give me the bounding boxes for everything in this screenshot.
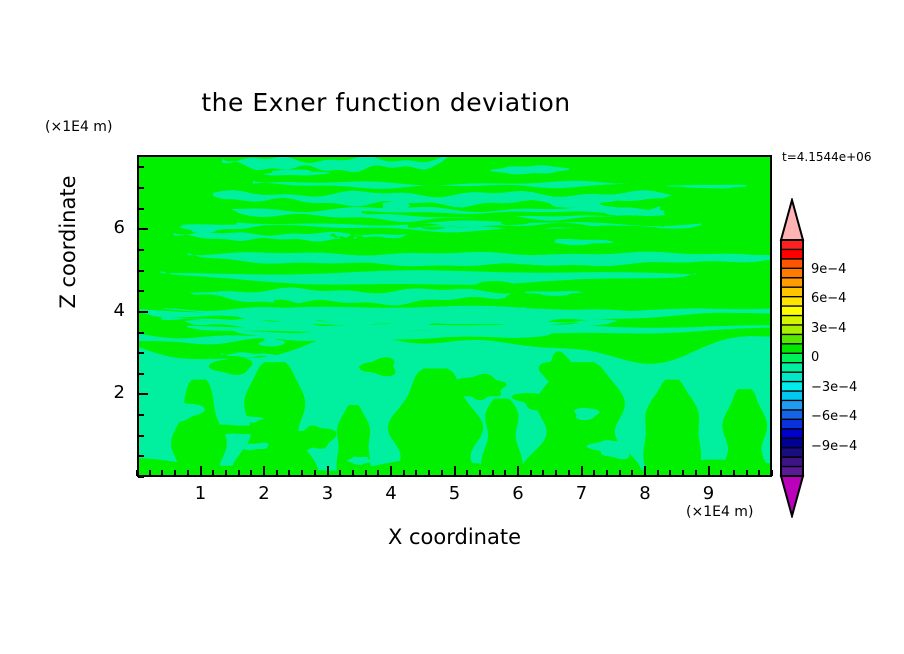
colorbar-tick-label: −6e−4 xyxy=(811,409,857,424)
x-tick-minor xyxy=(492,470,494,476)
x-tick-minor xyxy=(377,470,379,476)
x-tick-label: 7 xyxy=(567,483,597,504)
x-tick-minor xyxy=(339,470,341,476)
x-tick-minor xyxy=(657,470,659,476)
x-tick-minor xyxy=(593,470,595,476)
x-tick-minor xyxy=(720,470,722,476)
x-tick-top-major xyxy=(0,200,2,210)
x-tick-major xyxy=(390,466,392,476)
x-tick-minor xyxy=(504,470,506,476)
x-tick-top-major xyxy=(0,166,2,176)
y-tick-right-minor xyxy=(0,372,6,374)
x-tick-major xyxy=(581,466,583,476)
x-tick-top-major xyxy=(0,132,2,142)
x-tick-minor xyxy=(441,470,443,476)
x-tick-minor xyxy=(631,470,633,476)
x-tick-label: 3 xyxy=(313,483,343,504)
x-tick-minor xyxy=(250,470,252,476)
y-tick-major xyxy=(138,228,148,230)
y-tick-major xyxy=(138,393,148,395)
y-tick-minor xyxy=(138,373,144,375)
x-tick-minor xyxy=(606,470,608,476)
y-tick-minor xyxy=(138,455,144,457)
x-tick-minor xyxy=(225,470,227,476)
y-tick-minor xyxy=(138,435,144,437)
x-tick-minor xyxy=(352,470,354,476)
y-tick-label: 4 xyxy=(95,300,125,321)
y-tick-minor xyxy=(138,270,144,272)
x-tick-minor xyxy=(530,470,532,476)
y-tick-label: 6 xyxy=(95,217,125,238)
y-tick-minor xyxy=(138,187,144,189)
y-tick-label: 2 xyxy=(95,382,125,403)
x-tick-minor xyxy=(619,470,621,476)
colorbar-band xyxy=(781,419,803,429)
x-tick-minor xyxy=(428,470,430,476)
colorbar-band xyxy=(781,249,803,259)
x-tick-label: 6 xyxy=(503,483,533,504)
x-tick-minor xyxy=(187,470,189,476)
colorbar-band xyxy=(781,457,803,467)
colorbar-tick-label: 9e−4 xyxy=(811,262,846,277)
x-tick-major xyxy=(517,466,519,476)
y-tick-major xyxy=(138,311,148,313)
colorbar-under-arrow xyxy=(781,476,803,516)
colorbar-band xyxy=(781,344,803,354)
colorbar-tick-label: −3e−4 xyxy=(811,380,857,395)
x-tick-top-major xyxy=(0,268,2,278)
y-tick-minor xyxy=(138,249,144,251)
x-tick-minor xyxy=(695,470,697,476)
x-tick-label: 1 xyxy=(186,483,216,504)
y-tick-minor xyxy=(138,166,144,168)
figure-root: the Exner function deviation (×1E4 m) (×… xyxy=(0,0,904,654)
colorbar-band xyxy=(781,448,803,458)
y-tick-minor xyxy=(138,352,144,354)
x-tick-label: 5 xyxy=(440,483,470,504)
colorbar-band xyxy=(781,306,803,316)
x-tick-minor xyxy=(301,470,303,476)
colorbar-tick-label: 6e−4 xyxy=(811,291,846,306)
x-tick-minor xyxy=(568,470,570,476)
x-tick-label: 4 xyxy=(376,483,406,504)
colorbar-band xyxy=(781,268,803,278)
x-tick-minor xyxy=(365,470,367,476)
x-tick-minor xyxy=(771,470,773,476)
x-tick-minor xyxy=(403,470,405,476)
y-tick-minor xyxy=(138,290,144,292)
x-tick-minor xyxy=(669,470,671,476)
colorbar-band xyxy=(781,438,803,448)
x-tick-major xyxy=(454,466,456,476)
colorbar-tick-label: 3e−4 xyxy=(811,321,846,336)
x-tick-minor xyxy=(479,470,481,476)
colorbar-band xyxy=(781,297,803,307)
x-tick-top-major xyxy=(0,64,2,74)
x-tick-minor xyxy=(466,470,468,476)
x-tick-label: 2 xyxy=(249,483,279,504)
colorbar-band xyxy=(781,353,803,363)
x-tick-minor xyxy=(758,470,760,476)
x-tick-minor xyxy=(314,470,316,476)
colorbar-band xyxy=(781,325,803,335)
x-tick-minor xyxy=(161,470,163,476)
x-tick-minor xyxy=(174,470,176,476)
y-tick-minor xyxy=(138,476,144,478)
colorbar-band xyxy=(781,410,803,420)
x-tick-major xyxy=(263,466,265,476)
x-tick-minor xyxy=(415,470,417,476)
x-tick-minor xyxy=(746,470,748,476)
x-tick-minor xyxy=(212,470,214,476)
colorbar-tick-label: 0 xyxy=(811,350,819,365)
axis-ticks: 123456789246 xyxy=(0,0,904,654)
colorbar-over-arrow xyxy=(781,200,803,240)
x-tick-minor xyxy=(149,470,151,476)
x-tick-minor xyxy=(555,470,557,476)
colorbar-band xyxy=(781,278,803,288)
y-tick-minor xyxy=(138,414,144,416)
colorbar-band xyxy=(781,382,803,392)
x-tick-minor xyxy=(238,470,240,476)
x-tick-label: 8 xyxy=(630,483,660,504)
x-tick-major xyxy=(327,466,329,476)
colorbar-band xyxy=(781,240,803,250)
y-axis-title: Z coordinate xyxy=(56,152,80,332)
colorbar-band xyxy=(781,391,803,401)
colorbar-band xyxy=(781,363,803,373)
y-tick-minor xyxy=(138,332,144,334)
y-tick-minor xyxy=(138,208,144,210)
colorbar-band xyxy=(781,400,803,410)
x-tick-top-major xyxy=(0,234,2,244)
x-tick-label: 9 xyxy=(694,483,724,504)
colorbar-band xyxy=(781,429,803,439)
x-tick-major xyxy=(200,466,202,476)
x-tick-major xyxy=(708,466,710,476)
colorbar-band xyxy=(781,316,803,326)
x-tick-minor xyxy=(682,470,684,476)
x-tick-minor xyxy=(288,470,290,476)
colorbar-tick-label: −9e−4 xyxy=(811,439,857,454)
x-tick-minor xyxy=(542,470,544,476)
colorbar-band xyxy=(781,334,803,344)
colorbar: 9e−46e−43e−40−3e−4−6e−4−9e−4 xyxy=(775,198,817,518)
x-tick-top-major xyxy=(0,98,2,108)
x-tick-minor xyxy=(733,470,735,476)
x-axis-title: X coordinate xyxy=(137,525,772,549)
colorbar-band xyxy=(781,259,803,269)
x-tick-major xyxy=(644,466,646,476)
x-tick-top-major xyxy=(0,302,2,312)
x-tick-top-major xyxy=(0,30,2,40)
colorbar-band xyxy=(781,287,803,297)
colorbar-band xyxy=(781,372,803,382)
x-tick-minor xyxy=(276,470,278,476)
